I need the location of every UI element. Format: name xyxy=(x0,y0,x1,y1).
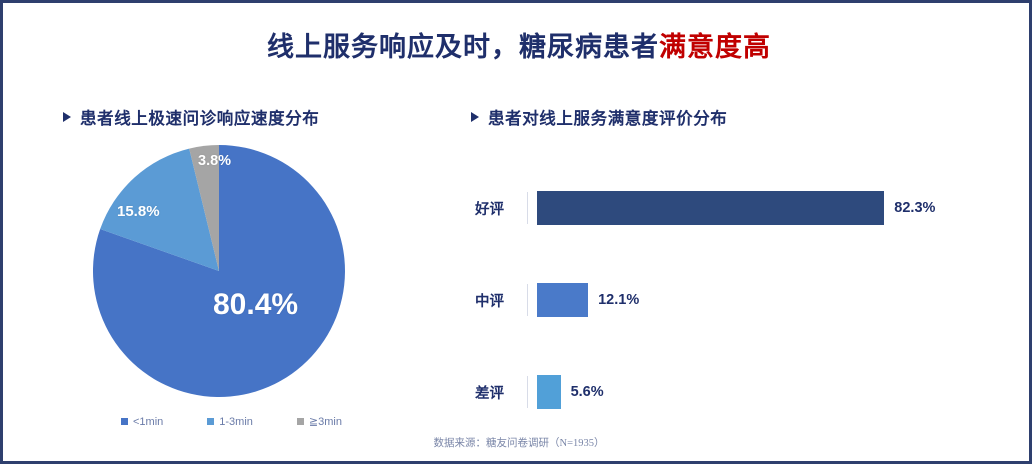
bar-category-label-0: 好评 xyxy=(471,198,527,219)
section-heading-left: 患者线上极速问诊响应速度分布 xyxy=(63,105,319,129)
section-heading-right-label: 患者对线上服务满意度评价分布 xyxy=(488,110,727,128)
pie-chart: 80.4% 15.8% 3.8% xyxy=(93,145,345,397)
bar-row: 差评 5.6% xyxy=(471,369,991,415)
pie-slice-label-2: 3.8% xyxy=(198,153,231,169)
bar-value-label-2: 5.6% xyxy=(571,384,604,400)
section-heading-left-label: 患者线上极速问诊响应速度分布 xyxy=(80,110,319,128)
page-title: 线上服务响应及时，糖尿病患者满意度高 xyxy=(3,25,1032,64)
triangle-bullet-icon xyxy=(471,112,479,122)
legend-swatch-icon xyxy=(207,418,214,425)
legend-item-2: ≧3min xyxy=(297,415,342,428)
axis-tick xyxy=(527,192,528,224)
pie-slice-label-1: 15.8% xyxy=(117,203,160,220)
legend-item-label-1: 1-3min xyxy=(219,416,253,428)
axis-tick xyxy=(527,376,528,408)
bar-category-label-2: 差评 xyxy=(471,382,527,403)
page-title-main: 线上服务响应及时，糖尿病患者 xyxy=(267,32,659,62)
legend-swatch-icon xyxy=(297,418,304,425)
legend-item-label-2: ≧3min xyxy=(309,415,342,428)
pie-slice-group xyxy=(93,145,345,397)
section-heading-right: 患者对线上服务满意度评价分布 xyxy=(471,105,727,129)
pie-chart-legend: <1min 1-3min ≧3min xyxy=(121,415,342,428)
slide-canvas: 线上服务响应及时，糖尿病患者满意度高 患者线上极速问诊响应速度分布 患者对线上服… xyxy=(0,0,1032,464)
page-title-accent: 满意度高 xyxy=(659,32,771,62)
pie-slice-label-0: 80.4% xyxy=(213,288,298,322)
legend-item-1: 1-3min xyxy=(207,416,253,428)
bar-value-label-0: 82.3% xyxy=(894,200,935,216)
axis-tick xyxy=(527,284,528,316)
bar-category-label-1: 中评 xyxy=(471,290,527,311)
bar-value-label-1: 12.1% xyxy=(598,292,639,308)
bar-row: 好评 82.3% xyxy=(471,185,991,231)
bar-fill-0 xyxy=(537,191,884,225)
bar-fill-2 xyxy=(537,375,561,409)
bar-chart: 好评 82.3% 中评 12.1% 差评 5.6% xyxy=(471,173,991,413)
bar-row: 中评 12.1% xyxy=(471,277,991,323)
source-note: 数据来源：糖友问卷调研（N=1935） xyxy=(3,435,1032,450)
triangle-bullet-icon xyxy=(63,112,71,122)
legend-item-label-0: <1min xyxy=(133,416,163,428)
bar-fill-1 xyxy=(537,283,588,317)
pie-chart-svg xyxy=(93,145,345,397)
legend-item-0: <1min xyxy=(121,416,163,428)
legend-swatch-icon xyxy=(121,418,128,425)
